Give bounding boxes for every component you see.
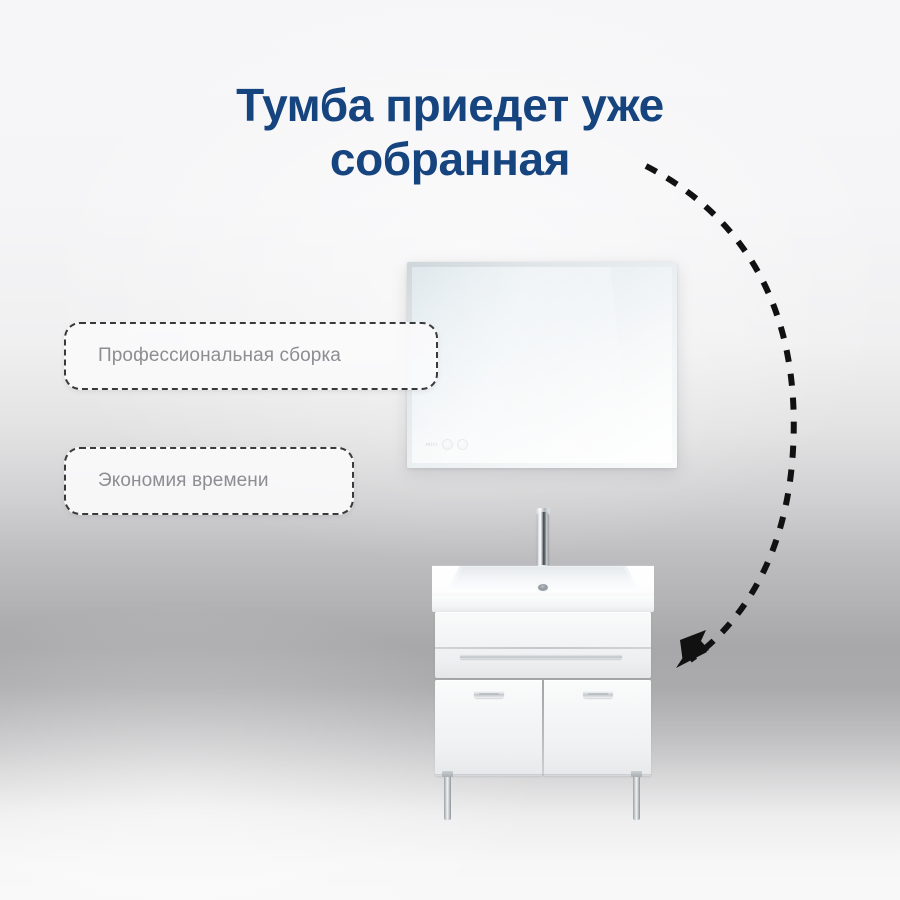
mirror-touch-controls[interactable]: mirr bbox=[426, 439, 468, 450]
vanity-unit bbox=[432, 508, 654, 820]
lower-door-right[interactable] bbox=[544, 680, 651, 776]
lower-door-left[interactable] bbox=[435, 680, 542, 776]
page-title: Тумба приедет уже собранная bbox=[90, 78, 810, 187]
chrome-leg-left bbox=[444, 776, 451, 820]
faucet-body bbox=[538, 512, 549, 568]
ceramic-washbasin bbox=[432, 564, 654, 612]
arrow-head-icon bbox=[680, 630, 709, 663]
arrow-head-triangle bbox=[676, 636, 707, 668]
basin-overflow-icon bbox=[538, 584, 548, 591]
cabinet-under-shadow bbox=[435, 774, 651, 777]
door-right-handle[interactable] bbox=[583, 690, 613, 698]
touch-sensor-dimmer-icon[interactable] bbox=[442, 439, 453, 450]
touch-sensor-power-icon[interactable] bbox=[457, 439, 468, 450]
basin-front-edge bbox=[432, 596, 654, 612]
mirror-brand-label: mirr bbox=[426, 442, 438, 448]
upper-drawer[interactable] bbox=[435, 612, 651, 678]
feature-chip-time: Экономия времени bbox=[64, 447, 354, 515]
chrome-leg-right bbox=[633, 776, 640, 820]
mirror-glass-surface: mirr bbox=[412, 267, 672, 463]
lower-cabinet-doors bbox=[435, 680, 651, 776]
feature-chip-assembly-label: Профессиональная сборка bbox=[98, 345, 341, 367]
bathroom-mirror: mirr bbox=[407, 262, 677, 468]
door-left-handle[interactable] bbox=[474, 690, 504, 698]
drawer-seam bbox=[435, 647, 651, 649]
feature-chip-assembly: Профессиональная сборка bbox=[64, 322, 438, 390]
feature-chip-time-label: Экономия времени bbox=[98, 470, 269, 492]
drawer-handle[interactable] bbox=[460, 654, 622, 659]
promo-banner: mirr bbox=[0, 0, 900, 900]
chrome-faucet bbox=[536, 508, 551, 570]
